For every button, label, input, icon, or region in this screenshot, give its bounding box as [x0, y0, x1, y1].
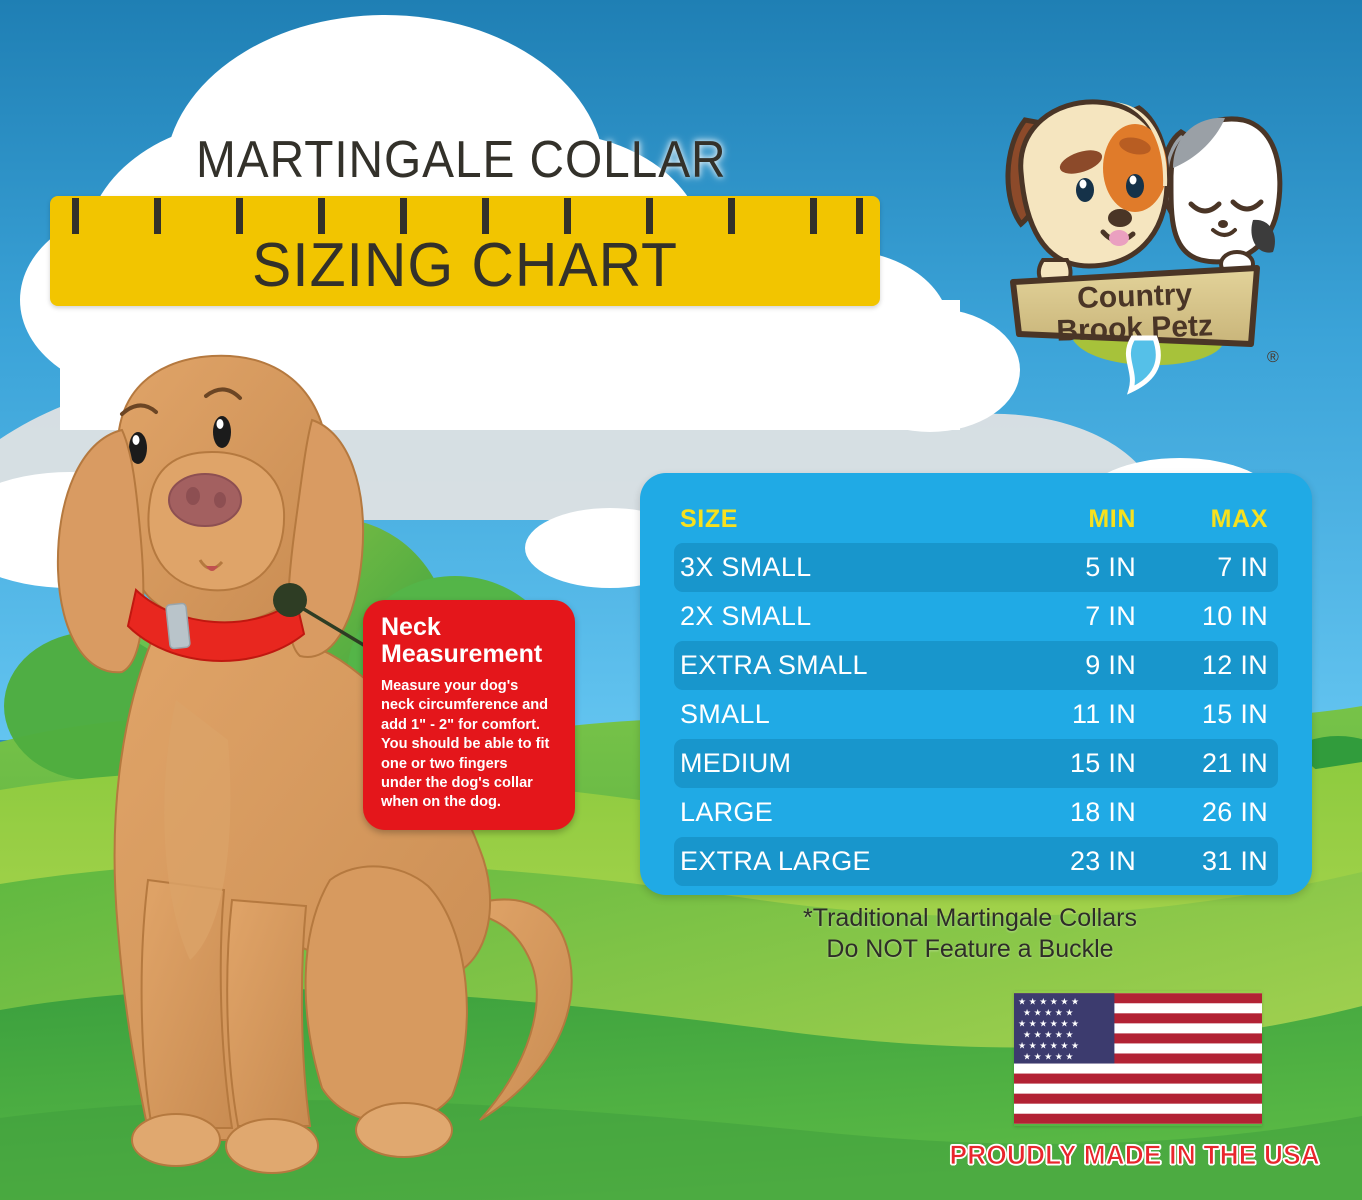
table-row: EXTRA LARGE 23 IN 31 IN — [674, 837, 1278, 886]
cell-max: 21 IN — [1136, 748, 1268, 779]
table-header-row: SIZE MIN MAX — [674, 495, 1278, 543]
collar-buckle — [166, 603, 190, 649]
banner-title: SIZING CHART — [71, 230, 860, 301]
table-row: EXTRA SMALL 9 IN 12 IN — [674, 641, 1278, 690]
ruler-tick — [72, 198, 79, 234]
callout-title-line-1: Neck — [381, 614, 561, 641]
callout-body-line-4: You should be able to fit — [381, 735, 561, 754]
callout-body-line-6: under the dog's collar — [381, 774, 561, 793]
ruler-ticks — [50, 196, 880, 234]
callout-body-line-3: add 1" - 2" for comfort. — [381, 716, 561, 735]
cell-min: 15 IN — [1018, 748, 1136, 779]
neck-measurement-callout: Neck Measurement Measure your dog's neck… — [363, 600, 575, 830]
callout-body-line-5: one or two fingers — [381, 755, 561, 774]
cell-size: MEDIUM — [680, 748, 1018, 779]
callout-title-line-2: Measurement — [381, 641, 561, 668]
cell-size: LARGE — [680, 797, 1018, 828]
footnote-line-2: Do NOT Feature a Buckle — [700, 934, 1240, 965]
ruler-tick — [856, 198, 863, 234]
callout-body-line-7: when on the dog. — [381, 793, 561, 812]
ruler-tick — [154, 198, 161, 234]
cell-max: 31 IN — [1136, 846, 1268, 877]
cell-min: 18 IN — [1018, 797, 1136, 828]
table-row: 2X SMALL 7 IN 10 IN — [674, 592, 1278, 641]
table-row: 3X SMALL 5 IN 7 IN — [674, 543, 1278, 592]
svg-text:★ ★ ★ ★ ★ ★: ★ ★ ★ ★ ★ ★ — [1018, 996, 1079, 1006]
ruler-tick — [810, 198, 817, 234]
ruler-banner: SIZING CHART — [50, 196, 880, 306]
cell-min: 9 IN — [1018, 650, 1136, 681]
size-table: SIZE MIN MAX 3X SMALL 5 IN 7 IN 2X SMALL… — [674, 495, 1278, 886]
column-header-min: MIN — [1018, 505, 1136, 534]
ruler-tick — [646, 198, 653, 234]
footnote-line-1: *Traditional Martingale Collars — [700, 903, 1240, 934]
callout-title: Neck Measurement — [381, 614, 561, 668]
cell-size: SMALL — [680, 699, 1018, 730]
logo-dog — [1008, 102, 1167, 288]
ruler-tick — [564, 198, 571, 234]
page-title: MARTINGALE COLLAR — [196, 130, 727, 190]
ruler-tick — [728, 198, 735, 234]
dog-front-leg-right — [227, 900, 310, 1126]
ruler-tick — [482, 198, 489, 234]
logo-cat — [1163, 118, 1280, 276]
svg-text:★ ★ ★ ★ ★ ★: ★ ★ ★ ★ ★ ★ — [1018, 1018, 1079, 1028]
size-table-panel: SIZE MIN MAX 3X SMALL 5 IN 7 IN 2X SMALL… — [640, 473, 1312, 895]
cell-min: 5 IN — [1018, 552, 1136, 583]
callout-body-line-2: neck circumference and — [381, 696, 561, 715]
cell-size: EXTRA SMALL — [680, 650, 1018, 681]
flag-stars: ★ ★ ★ ★ ★ ★ ★ ★ ★ ★ ★ ★ ★ ★ ★ ★ ★ ★ ★ ★ … — [1018, 996, 1079, 1061]
cell-max: 12 IN — [1136, 650, 1268, 681]
callout-body-line-1: Measure your dog's — [381, 677, 561, 696]
cell-size: 3X SMALL — [680, 552, 1018, 583]
sizing-chart-poster: MARTINGALE COLLAR SIZING CHART — [0, 0, 1362, 1200]
table-row: MEDIUM 15 IN 21 IN — [674, 739, 1278, 788]
cell-max: 10 IN — [1136, 601, 1268, 632]
made-in-usa-label: PROUDLY MADE IN THE USA — [917, 1140, 1320, 1171]
table-row: LARGE 18 IN 26 IN — [674, 788, 1278, 837]
logo-brand-line1: Country — [1077, 278, 1193, 315]
cell-max: 15 IN — [1136, 699, 1268, 730]
cell-size: 2X SMALL — [680, 601, 1018, 632]
table-row: SMALL 11 IN 15 IN — [674, 690, 1278, 739]
ruler-tick — [400, 198, 407, 234]
svg-text:★ ★ ★ ★ ★: ★ ★ ★ ★ ★ — [1023, 1052, 1073, 1062]
country-brook-petz-logo: Country Brook Petz ® — [985, 72, 1285, 402]
column-header-max: MAX — [1136, 505, 1268, 534]
cell-size: EXTRA LARGE — [680, 846, 1018, 877]
callout-body: Measure your dog's neck circumference an… — [381, 677, 561, 813]
dog-haunch — [306, 866, 467, 1123]
ruler-tick — [236, 198, 243, 234]
svg-text:★ ★ ★ ★ ★: ★ ★ ★ ★ ★ — [1023, 1029, 1073, 1039]
logo-registered-mark: ® — [1267, 349, 1279, 366]
cell-max: 26 IN — [1136, 797, 1268, 828]
svg-text:★ ★ ★ ★ ★: ★ ★ ★ ★ ★ — [1023, 1007, 1073, 1017]
logo-stream — [1128, 338, 1158, 390]
cell-max: 7 IN — [1136, 552, 1268, 583]
buckle-footnote: *Traditional Martingale Collars Do NOT F… — [700, 903, 1240, 966]
column-header-size: SIZE — [680, 505, 1018, 534]
ruler-tick — [318, 198, 325, 234]
svg-text:★ ★ ★ ★ ★ ★: ★ ★ ★ ★ ★ ★ — [1018, 1040, 1079, 1050]
cell-min: 7 IN — [1018, 601, 1136, 632]
usa-flag-icon: ★ ★ ★ ★ ★ ★ ★ ★ ★ ★ ★ ★ ★ ★ ★ ★ ★ ★ ★ ★ … — [1014, 991, 1262, 1126]
cell-min: 23 IN — [1018, 846, 1136, 877]
cell-min: 11 IN — [1018, 699, 1136, 730]
dog-nose — [169, 474, 241, 526]
